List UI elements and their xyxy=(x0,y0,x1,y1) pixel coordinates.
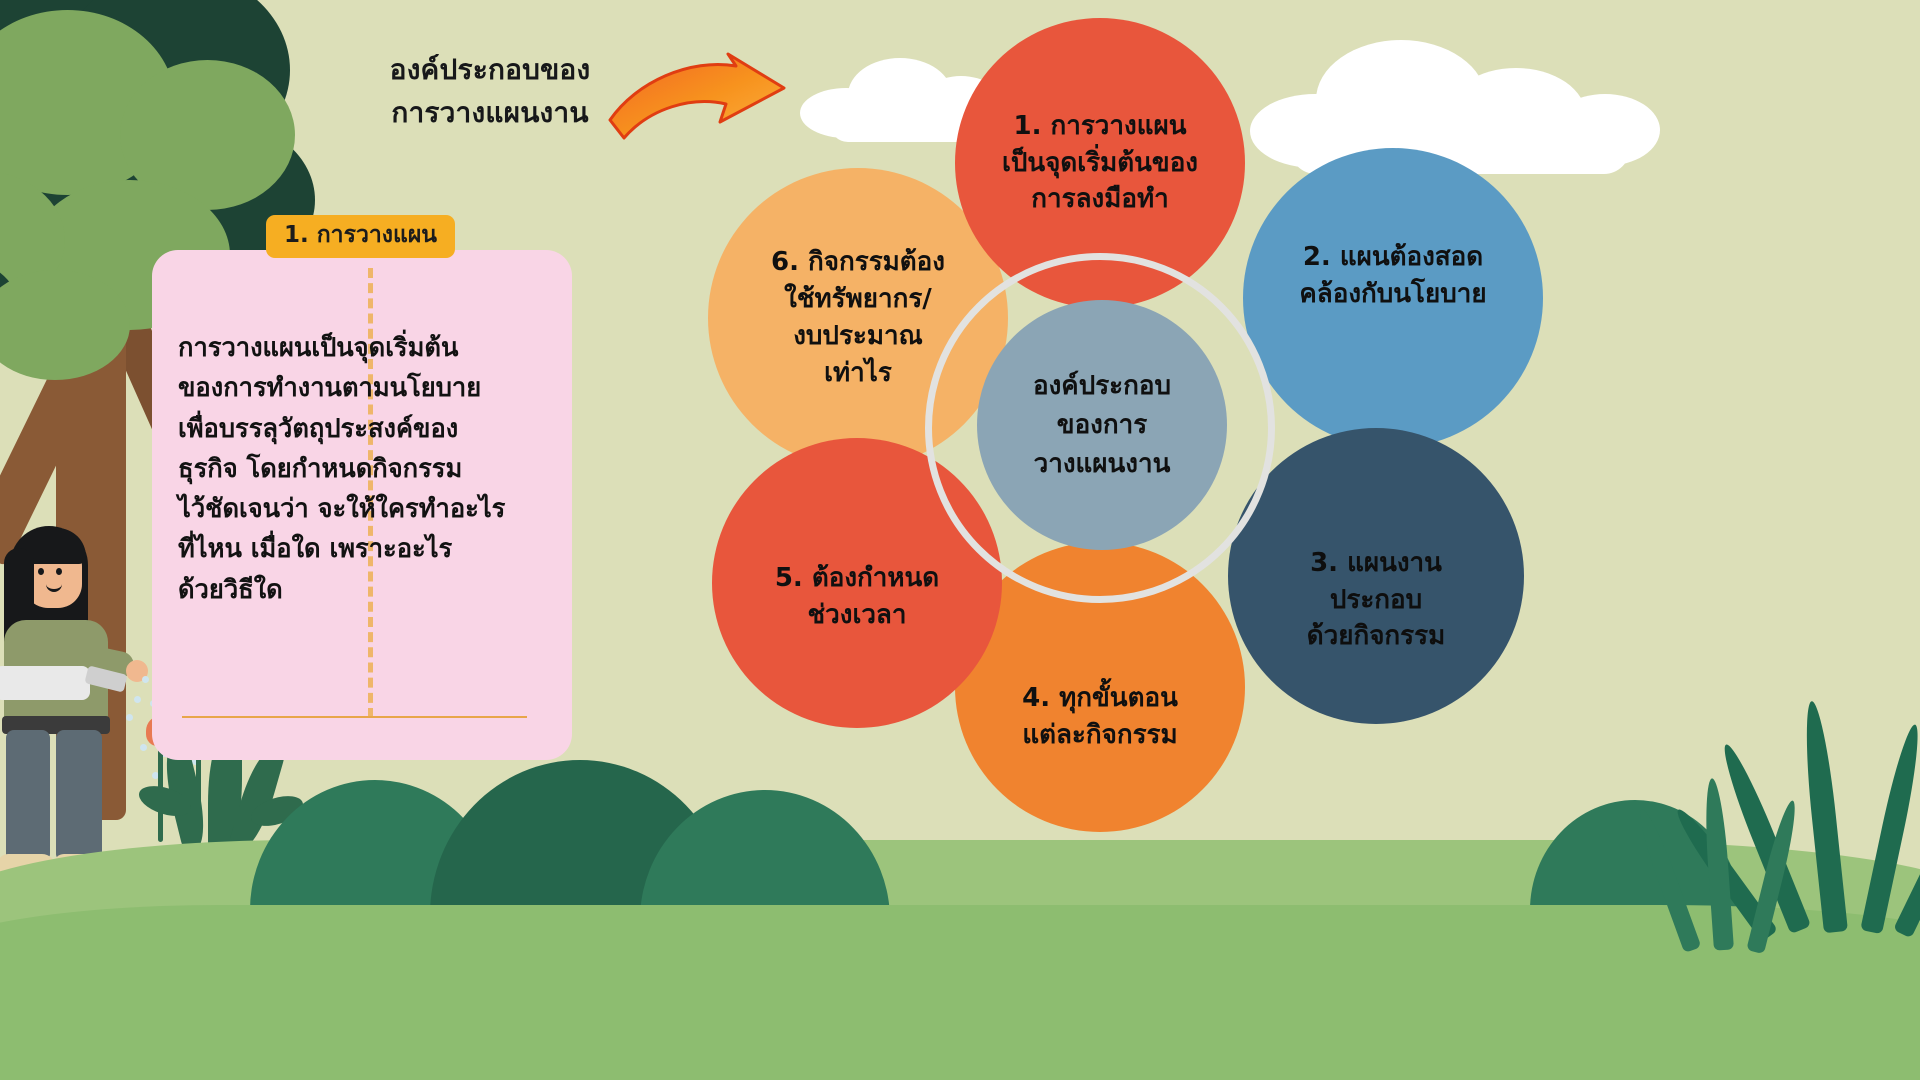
body-line: ด้วยวิธีใด xyxy=(178,570,578,610)
slide-title: องค์ประกอบของ การวางแผนงาน xyxy=(362,48,618,135)
grass-front xyxy=(0,905,1920,1080)
body-line: ของการทำงานตามนโยบาย xyxy=(178,368,578,408)
node-6-label: 6. กิจกรรมต้อง ใช้ทรัพยากร/ งบประมาณ เท่… xyxy=(771,244,945,392)
title-line-2: การวางแผนงาน xyxy=(362,91,618,134)
node-2-label: 2. แผนต้องสอด คล้องกับนโยบาย xyxy=(1299,239,1486,313)
curved-arrow-icon xyxy=(608,52,788,172)
node-circle-3[interactable]: 3. แผนงาน ประกอบ ด้วยกิจกรรม xyxy=(1228,428,1524,724)
body-line: เพื่อบรรลุวัตถุประสงค์ของ xyxy=(178,409,578,449)
node-3-label: 3. แผนงาน ประกอบ ด้วยกิจกรรม xyxy=(1307,545,1446,656)
center-label: องค์ประกอบ ของการ วางแผนงาน xyxy=(1033,367,1171,484)
body-line: ไว้ชัดเจนว่า จะให้ใครทำอะไร xyxy=(178,489,578,529)
node-5-label: 5. ต้องกำหนด ช่วงเวลา xyxy=(775,560,939,634)
body-line: การวางแผนเป็นจุดเริ่มต้น xyxy=(178,328,578,368)
slide-canvas: [data-name="water-spray"] { position:abs… xyxy=(0,0,1920,1080)
title-line-1: องค์ประกอบของ xyxy=(362,48,618,91)
card-body-text: การวางแผนเป็นจุดเริ่มต้น ของการทำงานตามน… xyxy=(178,328,578,610)
card-badge: 1. การวางแผน xyxy=(266,215,455,258)
node-circle-2[interactable]: 2. แผนต้องสอด คล้องกับนโยบาย xyxy=(1243,148,1543,448)
node-1-label: 1. การวางแผน เป็นจุดเริ่มต้นของ การลงมือ… xyxy=(1002,108,1198,219)
body-line: ที่ไหน เมื่อใด เพราะอะไร xyxy=(178,529,578,569)
cloud-right xyxy=(1250,28,1670,178)
grass-tuft-right-2 xyxy=(1660,770,1820,960)
node-4-label: 4. ทุกขั้นตอน แต่ละกิจกรรม xyxy=(1022,680,1178,754)
card-underline xyxy=(182,716,527,718)
body-line: ธุรกิจ โดยกำหนดกิจกรรม xyxy=(178,449,578,489)
center-circle[interactable]: องค์ประกอบ ของการ วางแผนงาน xyxy=(977,300,1227,550)
